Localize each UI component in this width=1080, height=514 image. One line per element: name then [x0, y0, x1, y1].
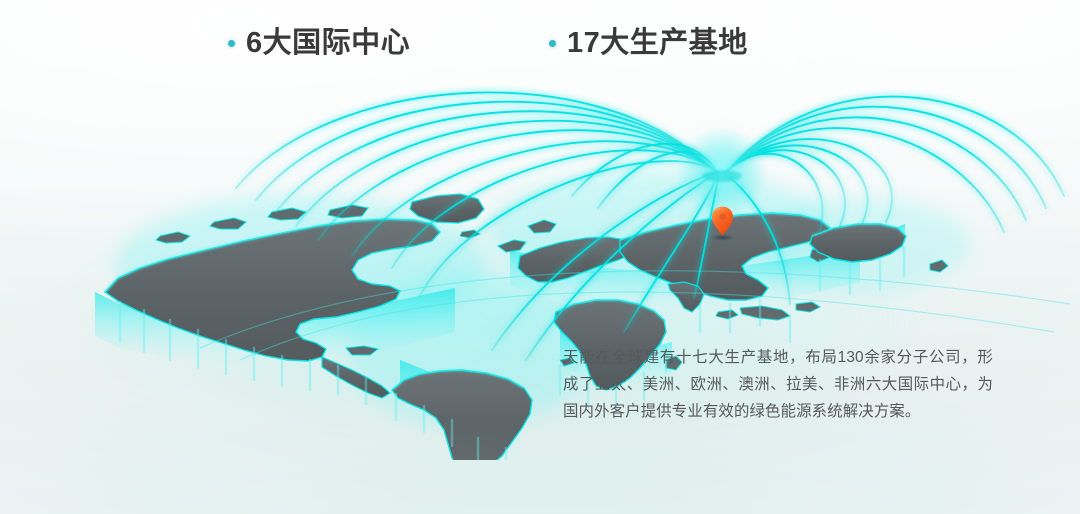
- description-block: 天能在全球建有十七大生产基地，布局130余家分子公司，形成了亚太、美洲、欧洲、澳…: [563, 344, 993, 425]
- description-paragraph: 天能在全球建有十七大生产基地，布局130余家分子公司，形成了亚太、美洲、欧洲、澳…: [563, 344, 993, 425]
- bullet-dot-icon: [549, 40, 556, 47]
- slide-canvas: 6大国际中心 17大生产基地 天能在全球建有十七大生产基地，布局130余家分子公…: [0, 0, 1080, 514]
- heading-production-bases-label: 17大生产基地: [567, 29, 748, 58]
- heading-international-centers-label: 6大国际中心: [246, 29, 410, 58]
- headings-row: 6大国际中心 17大生产基地: [0, 0, 1080, 86]
- heading-production-bases: 17大生产基地: [549, 29, 748, 58]
- bullet-dot-icon: [228, 40, 235, 47]
- heading-international-centers: 6大国际中心: [228, 29, 410, 58]
